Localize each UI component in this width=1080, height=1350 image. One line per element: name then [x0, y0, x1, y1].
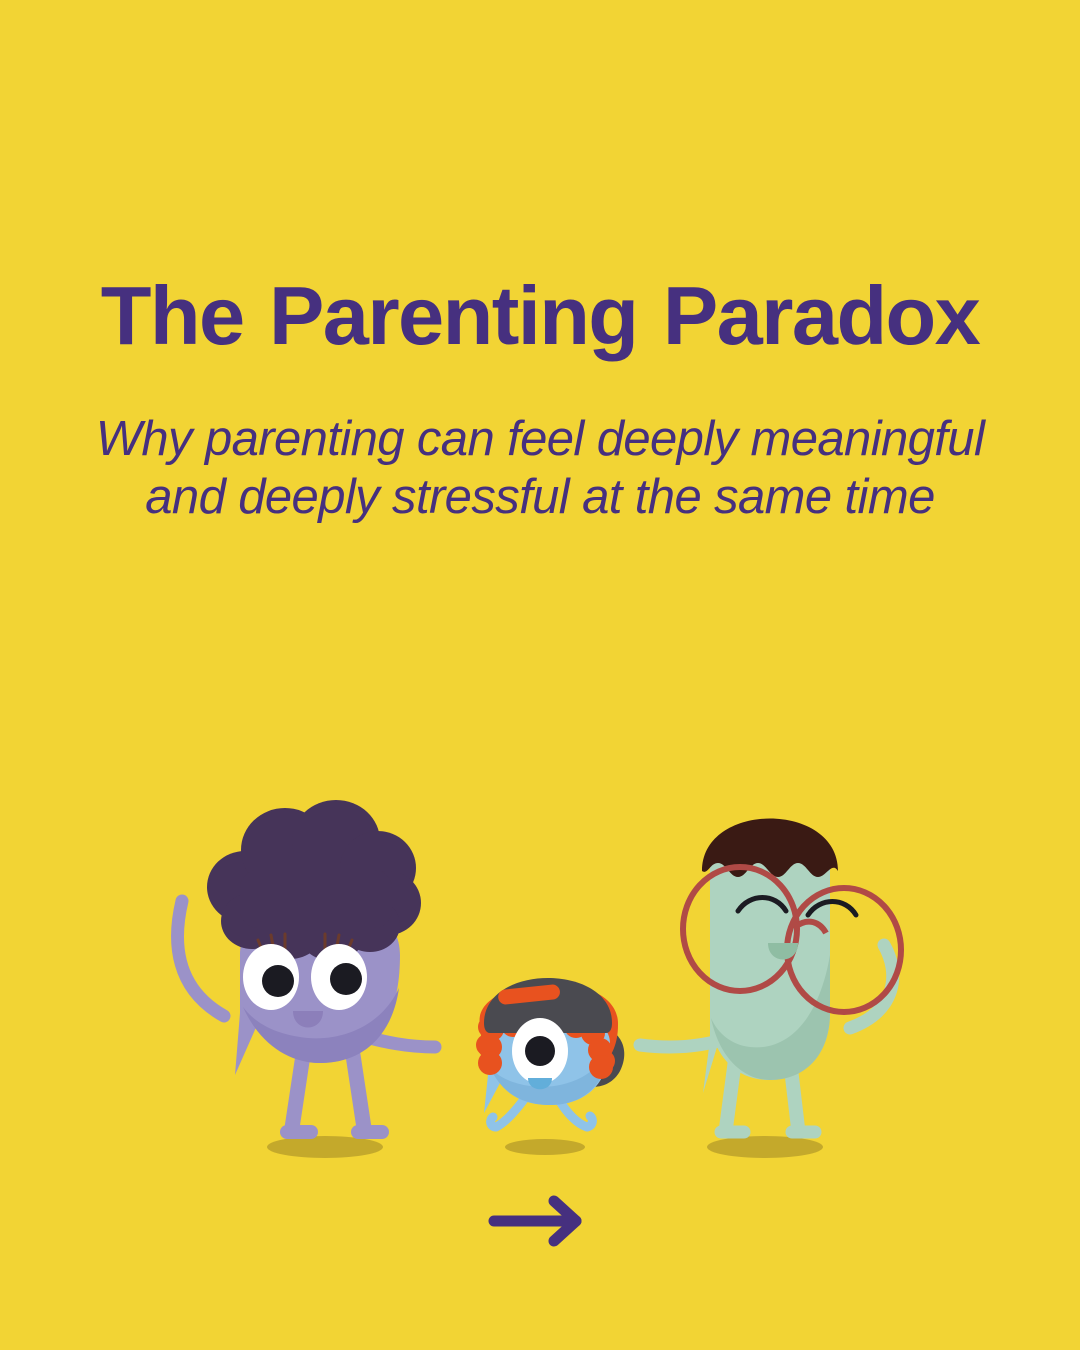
- arm-raised-parent-right: [850, 945, 893, 1028]
- foot-right-child: [587, 1116, 592, 1127]
- arrow-right-icon: [488, 1193, 592, 1249]
- leg-left-parent-left: [292, 1055, 303, 1128]
- character-parent-right: [640, 819, 901, 1133]
- text-block: The Parenting Paradox Why parenting can …: [0, 275, 1080, 527]
- social-card-slide: The Parenting Paradox Why parenting can …: [0, 0, 1080, 1350]
- shadow-child: [505, 1139, 585, 1155]
- family-illustration: [140, 775, 940, 1185]
- leg-left-child: [496, 1098, 525, 1127]
- eye-child: [512, 1018, 568, 1084]
- hair-parent-left: [207, 800, 421, 961]
- leg-right-parent-left: [353, 1055, 364, 1128]
- foot-left-child: [491, 1117, 496, 1127]
- page-title: The Parenting Paradox: [0, 275, 1080, 357]
- leg-left-parent-right: [726, 1060, 735, 1128]
- character-child: [476, 978, 624, 1127]
- next-arrow-button[interactable]: [488, 1193, 592, 1249]
- arm-raised-parent-left: [178, 901, 224, 1016]
- shadow-parent-right: [707, 1136, 823, 1158]
- shadow-parent-left: [267, 1136, 383, 1158]
- character-parent-left: [178, 800, 435, 1132]
- page-subtitle: Why parenting can feel deeply meaningful…: [0, 357, 1080, 527]
